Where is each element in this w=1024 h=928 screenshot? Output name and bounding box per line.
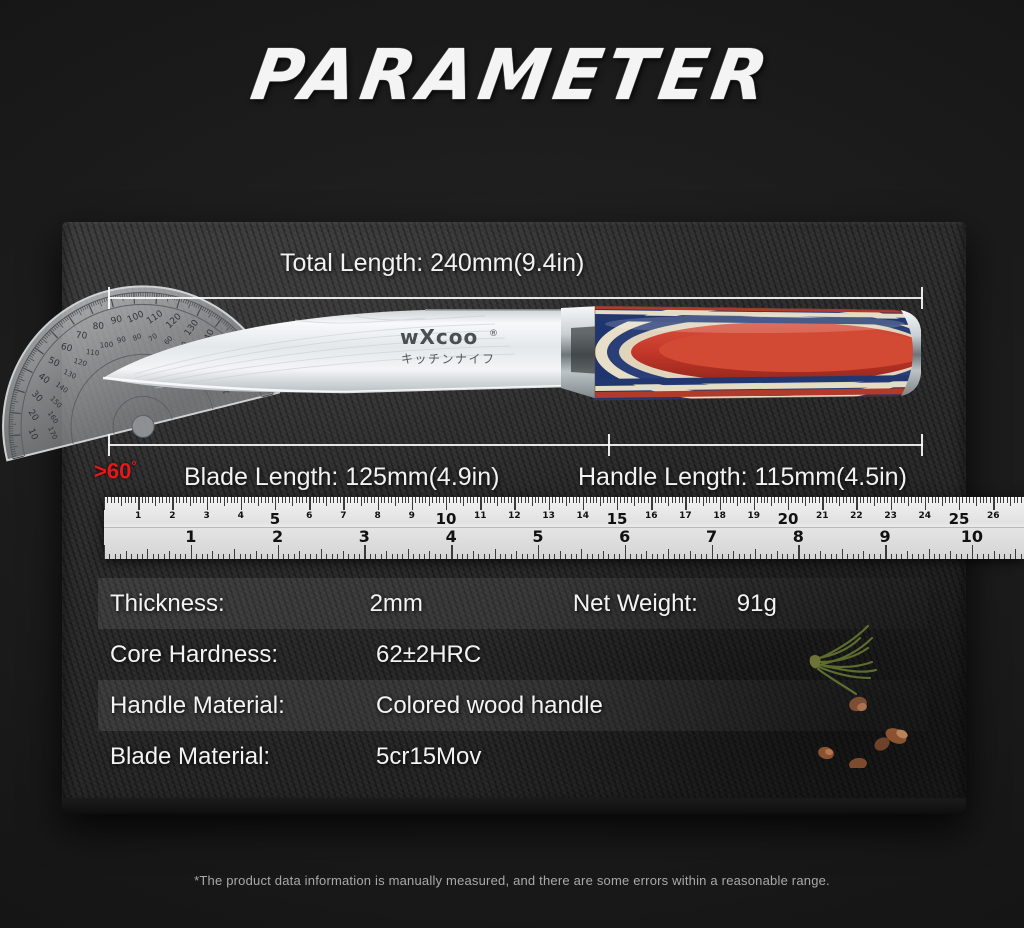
ruler-cm-scale: 1234567891011121314151617181920212223242… [104,497,1024,528]
spec-key-core-hardness: Core Hardness: [98,641,376,669]
total-length-label: Total Length: 240mm(9.4in) [280,249,584,278]
total-length-cap-left [108,287,110,309]
ruler-cm-label: 12 [508,512,521,521]
ruler-cm-label: 24 [919,512,932,521]
ruler-inch-label: 2 [272,529,283,545]
ruler-cm-label: 6 [306,512,312,521]
spec-value-blade-material: 5cr15Mov [376,743,572,771]
ruler-cm-label: 19 [748,512,761,521]
table-row: Handle Material: Colored wood handle [98,680,928,731]
chef-knife-image: wXcoo ® キッチンナイフ [95,300,945,425]
spec-key-thickness: Thickness: [98,590,370,618]
ruler-cm-label: 10 [436,512,457,527]
spec-key-blade-material: Blade Material: [98,743,376,771]
edge-angle-unit: ° [131,458,136,473]
edge-angle-value: >60 [94,458,131,483]
ruler-inch-label: 1 [185,529,196,545]
ruler-image: 1234567891011121314151617181920212223242… [104,497,1024,559]
page-title: PARAMETER [0,34,1024,116]
spec-value-thickness: 2mm [370,590,561,618]
protractor-degree-label: 70 [75,331,88,342]
ruler-cm-label: 8 [374,512,380,521]
ruler-cm-label: 18 [713,512,726,521]
blade-brand-text: wXcoo [400,325,478,349]
disclaimer-text: *The product data information is manuall… [0,873,1024,888]
ruler-cm-label: 14 [577,512,590,521]
ruler-cm-label: 13 [542,512,555,521]
table-row: Core Hardness: 62±2HRC [98,629,928,680]
ruler-cm-label: 9 [409,512,415,521]
blade-brand-subtitle: キッチンナイフ [401,352,496,366]
ruler-inch-label: 10 [961,529,983,545]
ruler-cm-label: 1 [135,512,141,521]
ruler-cm-label: 20 [778,512,799,527]
ruler-cm-label: 17 [679,512,692,521]
infographic-stage: PARAMETER [0,0,1024,928]
table-row: Thickness: 2mm Net Weight: 91g [98,578,928,629]
ruler-cm-label: 26 [987,512,1000,521]
ruler-inch-scale: 12345678910 [104,528,1024,559]
spec-key-handle-material: Handle Material: [98,692,376,720]
ruler-cm-label: 16 [645,512,658,521]
spec-key-net-weight: Net Weight: [561,590,737,618]
ruler-cm-label: 23 [884,512,897,521]
slate-board-edge [62,798,966,814]
ruler-cm-label: 4 [238,512,244,521]
ruler-cm-label: 2 [169,512,175,521]
ruler-inch-label: 3 [359,529,370,545]
ruler-cm-label: 22 [850,512,863,521]
ruler-cm-label: 5 [270,512,280,527]
ruler-inch-label: 5 [532,529,543,545]
ruler-inch-label: 9 [880,529,891,545]
ruler-inch-label: 8 [793,529,804,545]
ruler-cm-label: 15 [607,512,628,527]
spec-value-core-hardness: 62±2HRC [376,641,572,669]
ruler-inch-label: 4 [446,529,457,545]
blade-brand-registered-mark: ® [489,329,498,339]
handle-length-label: Handle Length: 115mm(4.5in) [578,463,907,492]
blade-length-label: Blade Length: 125mm(4.9in) [184,463,499,492]
ruler-inch-label: 6 [619,529,630,545]
spec-value-handle-material: Colored wood handle [376,692,572,720]
blade-length-cap-left [108,434,110,456]
table-row: Blade Material: 5cr15Mov [98,731,928,782]
ruler-inch-label: 7 [706,529,717,545]
ruler-cm-label: 3 [203,512,209,521]
ruler-cm-label: 7 [340,512,346,521]
blade-handle-divider-cap [608,434,610,456]
ruler-cm-label: 25 [949,512,970,527]
total-length-dimension-line [108,297,923,299]
edge-angle-label: >60° [94,458,137,484]
ruler-cm-label: 11 [474,512,487,521]
specifications-table: Thickness: 2mm Net Weight: 91g Core Hard… [98,578,928,782]
spec-value-net-weight: 91g [737,590,928,618]
ruler-cm-label: 21 [816,512,829,521]
handle-length-cap-right [921,434,923,456]
total-length-cap-right [921,287,923,309]
blade-handle-dimension-line [108,444,923,446]
